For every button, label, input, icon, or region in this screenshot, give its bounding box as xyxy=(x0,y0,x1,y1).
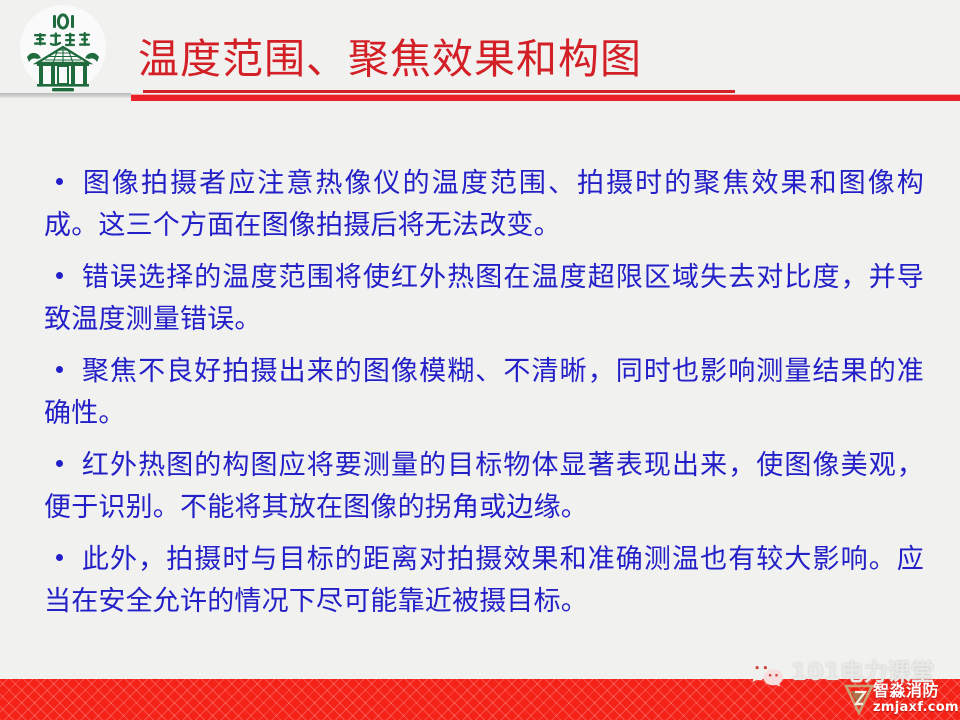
list-item: 红外热图的构图应将要测量的目标物体显著表现出来，使图像美观，便于识别。不能将其放… xyxy=(44,445,924,529)
bullet-text: 红外热图的构图应将要测量的目标物体显著表现出来，使图像美观，便于识别。不能将其放… xyxy=(44,450,924,523)
slide-header: 温度范围、聚焦效果和构图 xyxy=(0,0,960,104)
bullet-text: 错误选择的温度范围将使红外热图在温度超限区域失去对比度，并导致温度测量错误。 xyxy=(44,262,924,335)
watermark-brand-name: 智淼消防 xyxy=(873,681,960,700)
site-watermark: 智淼消防 zmjaxf.com xyxy=(843,681,960,718)
header-divider-gray xyxy=(0,93,131,98)
101-dianli-ketang-logo-icon xyxy=(17,3,109,93)
list-item: 此外，拍摄时与目标的距离对拍摄效果和准确测温也有较大影响。应当在安全允许的情况下… xyxy=(44,539,924,623)
bullet-dot-icon xyxy=(56,460,63,467)
title-underline xyxy=(143,90,735,93)
bullet-dot-icon xyxy=(56,366,63,373)
watermark-url: zmjaxf.com xyxy=(873,700,960,715)
bullet-dot-icon xyxy=(56,554,63,561)
list-item: 错误选择的温度范围将使红外热图在温度超限区域失去对比度，并导致温度测量错误。 xyxy=(44,257,924,341)
bullet-text: 此外，拍摄时与目标的距离对拍摄效果和准确测温也有较大影响。应当在安全允许的情况下… xyxy=(44,544,924,617)
list-item: 聚焦不良好拍摄出来的图像模糊、不清晰，同时也影响测量结果的准确性。 xyxy=(44,351,924,435)
list-item: 图像拍摄者应注意热像仪的温度范围、拍摄时的聚焦效果和图像构成。这三个方面在图像拍… xyxy=(44,163,924,247)
wechat-icon xyxy=(748,659,784,687)
page-title: 温度范围、聚焦效果和构图 xyxy=(138,33,758,91)
watermark-text-block: 智淼消防 zmjaxf.com xyxy=(873,681,960,715)
zhimiao-xiaofang-logo-icon xyxy=(843,683,875,716)
header-divider-red xyxy=(131,94,960,101)
bullet-dot-icon xyxy=(56,272,63,279)
presentation-slide: 温度范围、聚焦效果和构图 图像拍摄者应注意热像仪的温度范围、拍摄时的聚焦效果和图… xyxy=(0,0,960,720)
bullet-text: 图像拍摄者应注意热像仪的温度范围、拍摄时的聚焦效果和图像构成。这三个方面在图像拍… xyxy=(44,168,924,241)
bullet-text: 聚焦不良好拍摄出来的图像模糊、不清晰，同时也影响测量结果的准确性。 xyxy=(44,356,924,429)
slide-body: 图像拍摄者应注意热像仪的温度范围、拍摄时的聚焦效果和图像构成。这三个方面在图像拍… xyxy=(44,163,924,633)
brand-logo xyxy=(17,3,109,93)
bullet-dot-icon xyxy=(56,178,63,185)
